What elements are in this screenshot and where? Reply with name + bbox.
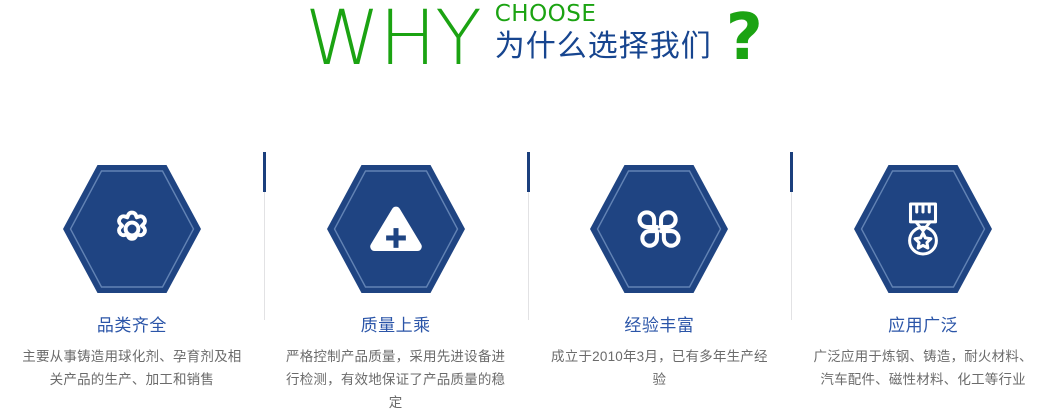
feature-card[interactable]: 质量上乘 严格控制产品质量，采用先进设备进行检测，有效地保证了产品质量的稳定 <box>264 150 528 416</box>
card-description: 严格控制产品质量，采用先进设备进行检测，有效地保证了产品质量的稳定 <box>281 345 511 414</box>
hexagon-badge <box>63 165 201 293</box>
header-choose-word: CHOOSE <box>495 2 712 26</box>
feature-card[interactable]: 经验丰富 成立于2010年3月，已有多年生产经验 <box>528 150 792 416</box>
card-divider <box>527 152 530 320</box>
divider-blue-stub <box>527 152 530 192</box>
header-text-stack: CHOOSE 为什么选择我们 <box>495 2 712 66</box>
divider-gray-line <box>264 192 265 320</box>
divider-blue-stub <box>263 152 266 192</box>
card-title: 应用广泛 <box>888 316 958 336</box>
feature-cards-row: 品类齐全 主要从事铸造用球化剂、孕育剂及相关产品的生产、加工和销售 质量上乘 严… <box>0 150 1055 416</box>
divider-blue-stub <box>790 152 793 192</box>
card-title: 品类齐全 <box>97 316 167 336</box>
card-description: 广泛应用于炼钢、铸造，耐火材料、汽车配件、磁性材料、化工等行业 <box>808 345 1038 391</box>
hexagon-badge <box>327 165 465 293</box>
feature-card[interactable]: 应用广泛 广泛应用于炼钢、铸造，耐火材料、汽车配件、磁性材料、化工等行业 <box>791 150 1055 416</box>
hexagon-badge <box>854 165 992 293</box>
divider-gray-line <box>791 192 792 320</box>
card-description: 主要从事铸造用球化剂、孕育剂及相关产品的生产、加工和销售 <box>17 345 247 391</box>
card-description: 成立于2010年3月，已有多年生产经验 <box>544 345 774 391</box>
header-question-mark: ? <box>726 6 763 70</box>
gear-icon <box>63 165 201 293</box>
card-title: 质量上乘 <box>361 316 431 336</box>
triangle-plus-icon <box>327 165 465 293</box>
section-header: WHY CHOOSE 为什么选择我们 ? <box>0 0 1055 90</box>
feature-card[interactable]: 品类齐全 主要从事铸造用球化剂、孕育剂及相关产品的生产、加工和销售 <box>0 150 264 416</box>
card-divider <box>263 152 266 320</box>
card-title: 经验丰富 <box>624 316 694 336</box>
header-title-group: WHY CHOOSE 为什么选择我们 ? <box>305 0 763 90</box>
divider-gray-line <box>528 192 529 320</box>
clover-icon <box>590 165 728 293</box>
medal-icon <box>854 165 992 293</box>
hexagon-badge <box>590 165 728 293</box>
card-divider <box>790 152 793 320</box>
header-chinese-title: 为什么选择我们 <box>495 28 712 66</box>
header-why-word: WHY <box>305 0 481 76</box>
